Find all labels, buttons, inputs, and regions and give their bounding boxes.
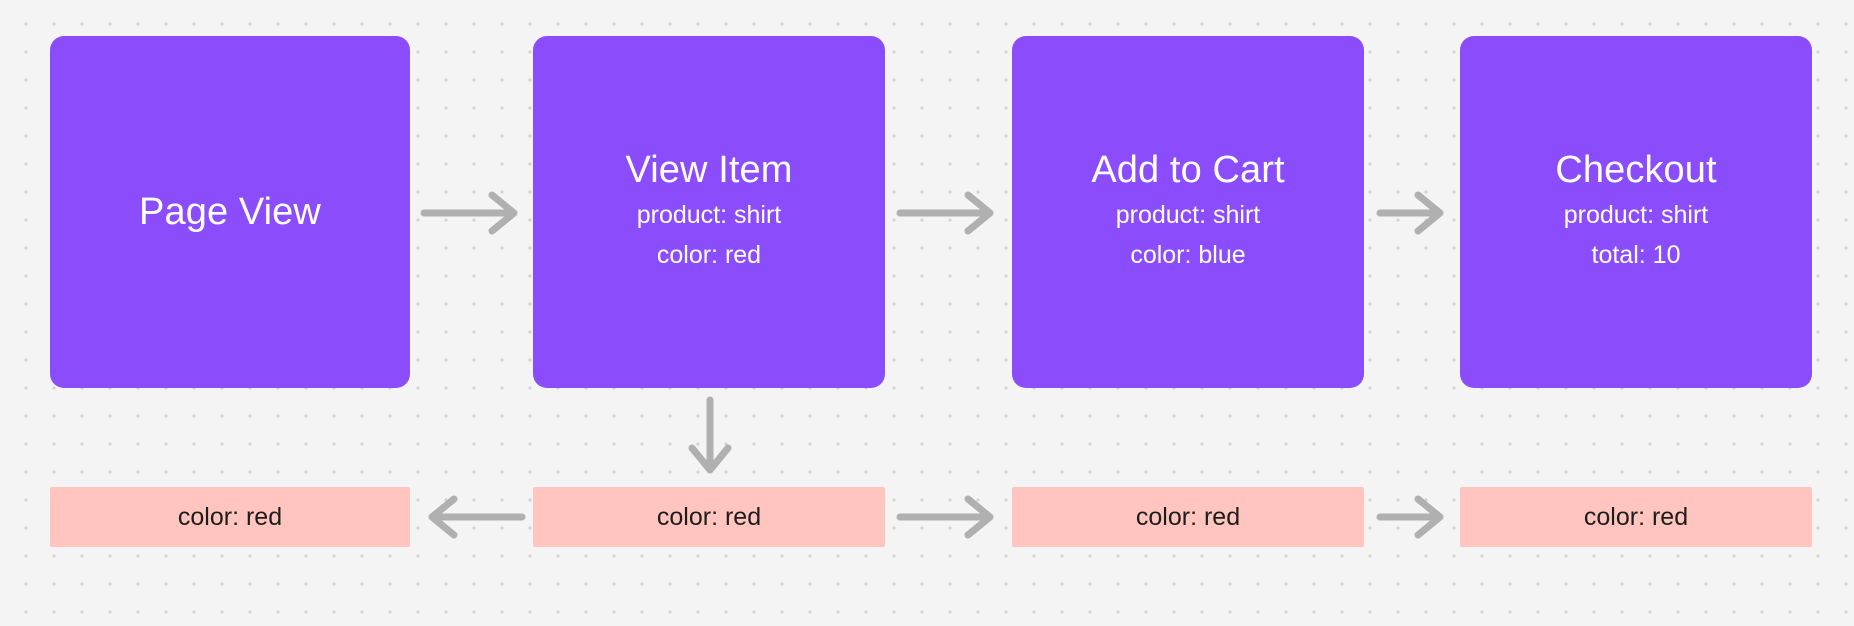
property-node-label: color: red xyxy=(657,505,761,530)
event-node-property: product: shirt xyxy=(1116,195,1261,236)
event-node-view-item[interactable]: View Item product: shirt color: red xyxy=(533,36,885,388)
event-node-property: product: shirt xyxy=(637,195,782,236)
event-node-properties: product: shirt color: blue xyxy=(1116,195,1261,276)
arrow-left-icon xyxy=(420,494,526,540)
property-node-1[interactable]: color: red xyxy=(50,487,410,547)
event-node-property: product: shirt xyxy=(1564,195,1709,236)
event-node-page-view[interactable]: Page View xyxy=(50,36,410,388)
property-node-2[interactable]: color: red xyxy=(533,487,885,547)
event-node-checkout[interactable]: Checkout product: shirt total: 10 xyxy=(1460,36,1812,388)
property-node-3[interactable]: color: red xyxy=(1012,487,1364,547)
arrow-right-icon xyxy=(896,190,1002,236)
property-node-label: color: red xyxy=(178,505,282,530)
event-node-property: color: blue xyxy=(1130,235,1245,276)
arrow-right-icon xyxy=(1376,190,1452,236)
arrow-right-icon xyxy=(1376,494,1452,540)
property-node-4[interactable]: color: red xyxy=(1460,487,1812,547)
event-node-title: Add to Cart xyxy=(1091,148,1284,193)
flow-canvas[interactable]: Page View View Item product: shirt color… xyxy=(0,0,1854,626)
arrow-right-icon xyxy=(896,494,1002,540)
arrow-right-icon xyxy=(420,190,526,236)
event-node-properties: product: shirt total: 10 xyxy=(1564,195,1709,276)
event-node-add-to-cart[interactable]: Add to Cart product: shirt color: blue xyxy=(1012,36,1364,388)
event-node-title: Checkout xyxy=(1555,148,1716,193)
event-node-properties: product: shirt color: red xyxy=(637,195,782,276)
event-node-property: color: red xyxy=(657,235,761,276)
event-node-title: Page View xyxy=(139,190,321,235)
property-node-label: color: red xyxy=(1584,505,1688,530)
event-node-title: View Item xyxy=(625,148,792,193)
property-node-label: color: red xyxy=(1136,505,1240,530)
arrow-down-icon xyxy=(686,396,734,480)
event-node-property: total: 10 xyxy=(1592,235,1681,276)
